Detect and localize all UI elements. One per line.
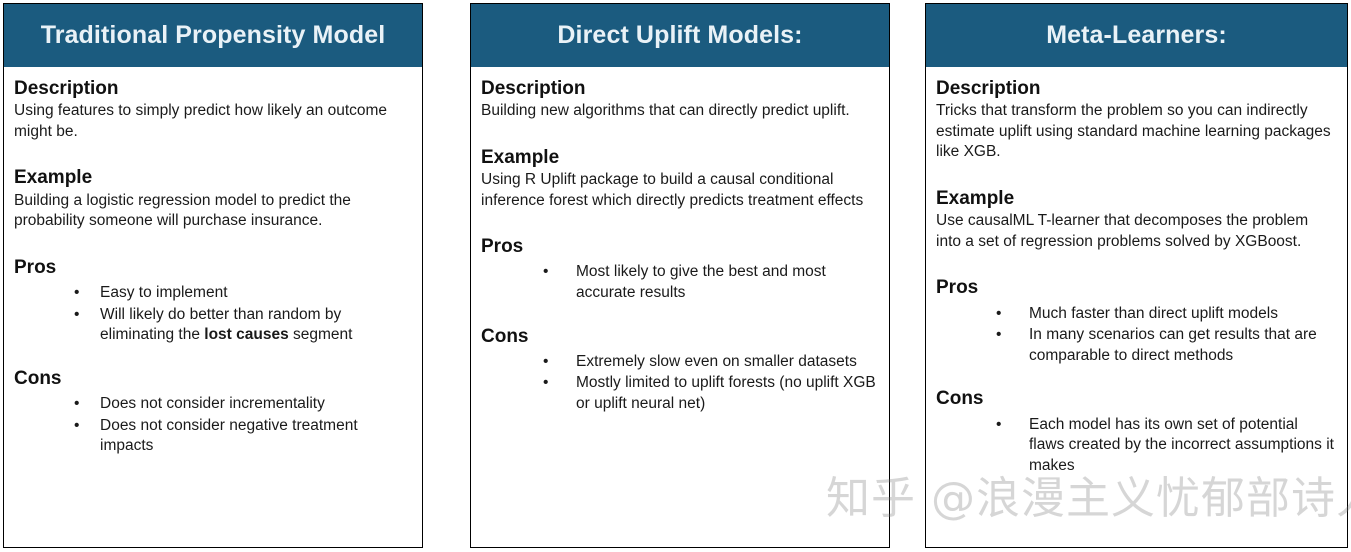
bullet-icon: • xyxy=(543,352,548,373)
card-title: Direct Uplift Models: xyxy=(557,22,802,50)
cons-list: •Does not consider incrementality •Does … xyxy=(14,394,410,457)
pros-list: •Easy to implement •Will likely do bette… xyxy=(14,283,410,346)
description-text: Building new algorithms that can directl… xyxy=(481,101,877,122)
card-body: Description Using features to simply pre… xyxy=(4,67,422,457)
spacer xyxy=(481,122,877,146)
card-body: Description Tricks that transform the pr… xyxy=(926,67,1347,476)
example-text: Using R Uplift package to build a causal… xyxy=(481,170,877,211)
card-header: Direct Uplift Models: xyxy=(471,4,889,67)
list-item: •In many scenarios can get results that … xyxy=(996,325,1335,366)
list-item-text: Much faster than direct uplift models xyxy=(1029,305,1278,322)
card-header: Meta-Learners: xyxy=(926,4,1347,67)
cons-heading: Cons xyxy=(14,367,410,390)
example-heading: Example xyxy=(936,187,1335,210)
list-item: •Mostly limited to uplift forests (no up… xyxy=(543,373,877,414)
list-item: •Much faster than direct uplift models xyxy=(996,304,1335,325)
spacer xyxy=(481,211,877,235)
example-text: Use causalML T-learner that decomposes t… xyxy=(936,211,1335,252)
list-item-text: Each model has its own set of potential … xyxy=(1029,416,1334,474)
bullet-icon: • xyxy=(74,305,79,326)
card-title: Traditional Propensity Model xyxy=(41,22,386,50)
list-item: •Does not consider negative treatment im… xyxy=(74,416,410,457)
cons-heading: Cons xyxy=(936,387,1335,410)
spacer xyxy=(14,347,410,367)
pros-list: •Much faster than direct uplift models •… xyxy=(936,304,1335,367)
list-item-text: Will likely do better than random by eli… xyxy=(100,306,352,344)
spacer xyxy=(481,305,877,325)
card-traditional-propensity-model: Traditional Propensity Model Description… xyxy=(3,3,423,548)
cons-heading: Cons xyxy=(481,325,877,348)
card-header: Traditional Propensity Model xyxy=(4,4,422,67)
description-text: Using features to simply predict how lik… xyxy=(14,101,410,142)
spacer xyxy=(936,163,1335,187)
list-item: •Most likely to give the best and most a… xyxy=(543,262,877,303)
bullet-icon: • xyxy=(996,304,1001,325)
pros-heading: Pros xyxy=(14,256,410,279)
spacer xyxy=(936,367,1335,387)
bullet-icon: • xyxy=(543,262,548,283)
list-item-text: Does not consider incrementality xyxy=(100,395,325,412)
bullet-icon: • xyxy=(996,415,1001,436)
bullet-icon: • xyxy=(74,416,79,437)
list-item: •Each model has its own set of potential… xyxy=(996,415,1335,477)
bullet-icon: • xyxy=(996,325,1001,346)
spacer xyxy=(936,252,1335,276)
bullet-icon: • xyxy=(74,394,79,415)
list-item: •Does not consider incrementality xyxy=(74,394,410,415)
pros-heading: Pros xyxy=(481,235,877,258)
bullet-icon: • xyxy=(74,283,79,304)
spacer xyxy=(14,232,410,256)
pros-heading: Pros xyxy=(936,276,1335,299)
cons-list: •Extremely slow even on smaller datasets… xyxy=(481,352,877,415)
comparison-board: Traditional Propensity Model Description… xyxy=(0,0,1351,552)
list-item-text: Most likely to give the best and most ac… xyxy=(576,263,826,301)
description-heading: Description xyxy=(936,77,1335,100)
list-item-text: In many scenarios can get results that a… xyxy=(1029,326,1317,364)
example-heading: Example xyxy=(481,146,877,169)
list-item: •Easy to implement xyxy=(74,283,410,304)
cons-list: •Each model has its own set of potential… xyxy=(936,415,1335,477)
card-body: Description Building new algorithms that… xyxy=(471,67,889,415)
example-text: Building a logistic regression model to … xyxy=(14,191,410,232)
list-item-text: Mostly limited to uplift forests (no upl… xyxy=(576,374,876,412)
description-heading: Description xyxy=(14,77,410,100)
card-title: Meta-Learners: xyxy=(1046,22,1227,50)
spacer xyxy=(14,142,410,166)
list-item-text: Easy to implement xyxy=(100,284,228,301)
bullet-icon: • xyxy=(543,373,548,394)
list-item: •Extremely slow even on smaller datasets xyxy=(543,352,877,373)
example-heading: Example xyxy=(14,166,410,189)
list-item-text: Extremely slow even on smaller datasets xyxy=(576,353,857,370)
card-meta-learners: Meta-Learners: Description Tricks that t… xyxy=(925,3,1348,548)
description-heading: Description xyxy=(481,77,877,100)
description-text: Tricks that transform the problem so you… xyxy=(936,101,1335,163)
list-item: •Will likely do better than random by el… xyxy=(74,305,410,346)
pros-list: •Most likely to give the best and most a… xyxy=(481,262,877,303)
list-item-text: Does not consider negative treatment imp… xyxy=(100,417,358,455)
card-direct-uplift-models: Direct Uplift Models: Description Buildi… xyxy=(470,3,890,548)
